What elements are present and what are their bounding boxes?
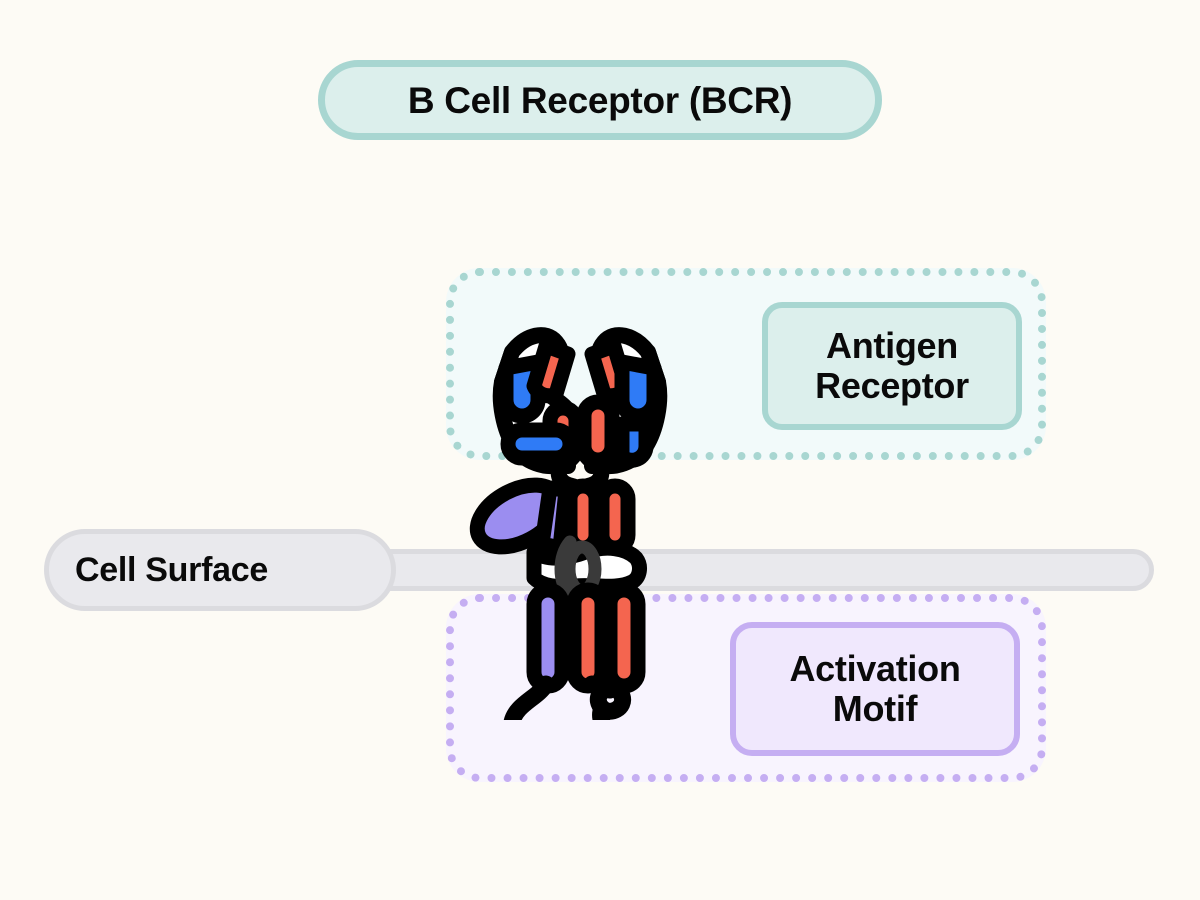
motif-label-line-1: Activation (789, 649, 960, 689)
callout-label-activation-motif: Activation Motif (730, 622, 1020, 756)
cell-surface-label: Cell Surface (44, 529, 396, 611)
antigen-label-line-2: Receptor (815, 366, 969, 406)
page-title-label: B Cell Receptor (BCR) (408, 82, 792, 119)
diagram-canvas: B Cell Receptor (BCR) Cell Surface (0, 0, 1200, 900)
b-cell-receptor-molecule (450, 290, 710, 720)
cell-surface-label-text: Cell Surface (49, 553, 268, 587)
page-title: B Cell Receptor (BCR) (318, 60, 882, 140)
motif-label-line-2: Motif (833, 689, 917, 729)
callout-label-antigen-receptor: Antigen Receptor (762, 302, 1022, 430)
antigen-label-line-1: Antigen (826, 326, 958, 366)
